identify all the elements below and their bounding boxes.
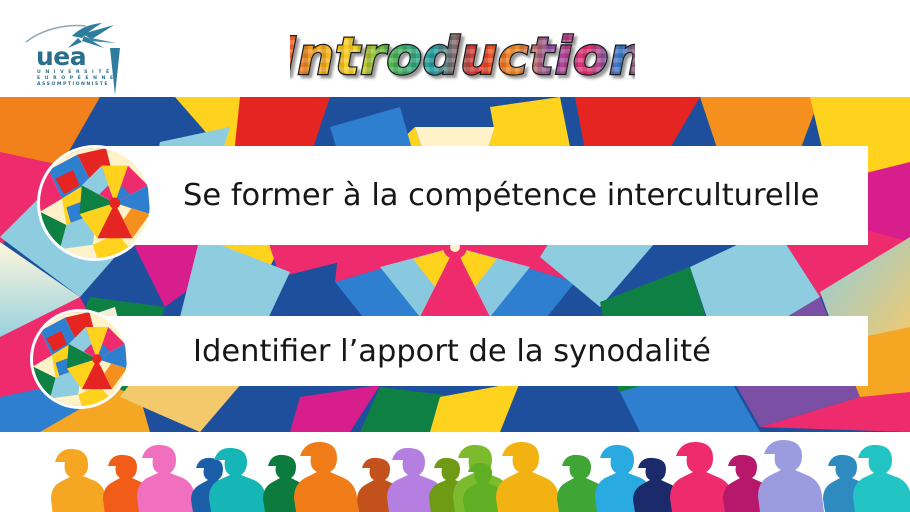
kaleidoscope-circle-graphic [33,312,127,406]
bullet-text-1: Se former à la compétence interculturell… [103,178,819,213]
bullet-text-2: Identifier l’apport de la synodalité [103,334,711,369]
bullet-plate-1: Se former à la compétence interculturell… [103,146,868,245]
bullet-plate-2: Identifier l’apport de la synodalité [103,316,868,386]
uea-logo: uea U N I V E R S I T É E U R O P É E N … [18,22,138,90]
people-silhouettes-strip [0,432,910,512]
title-wordart: Introduction Introduction [290,22,635,90]
kaleidoscope-circle-icon [40,148,150,258]
logo-tagline: U N I V E R S I T É E U R O P É E N N E … [37,70,115,89]
svg-text:Introduction: Introduction [290,27,635,87]
people-silhouettes-graphic [0,432,910,512]
logo-tagline-line3: ASSOMPTIONNISTE [37,82,115,88]
kaleidoscope-circle-graphic [40,148,150,258]
presentation-slide: uea U N I V E R S I T É E U R O P É E N … [0,0,910,512]
kaleidoscope-circle-icon [33,312,127,406]
logo-accent-bar [110,48,120,95]
page-title: Introduction Introduction [290,22,635,90]
slide-header: uea U N I V E R S I T É E U R O P É E N … [0,0,910,97]
logo-wordmark: uea [36,44,86,69]
